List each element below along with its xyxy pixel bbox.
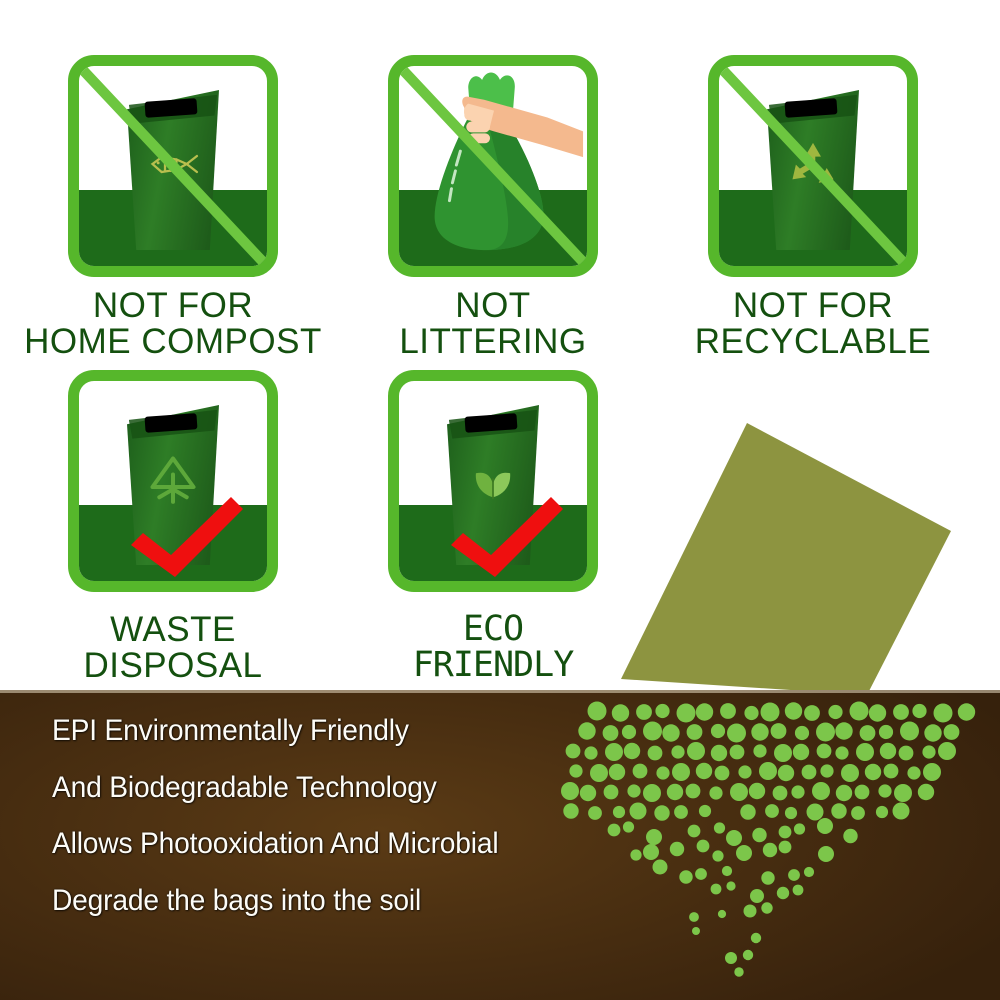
badge-not-for-home-compost[interactable]	[68, 55, 278, 277]
badge-label-not-littering: NOT LITTERING	[333, 288, 653, 359]
bin-slot	[145, 413, 198, 433]
fishbone-icon	[144, 146, 201, 180]
banner-line-2: And Biodegradable Technology	[52, 765, 616, 812]
badge-frame	[708, 55, 918, 277]
trash-bin-icon	[127, 90, 219, 250]
olive-plastic-bag-sheet-icon	[595, 405, 995, 695]
badge-label-not-for-recyclable: NOT FOR RECYCLABLE	[653, 288, 973, 359]
bin-slot	[785, 98, 838, 118]
poster-canvas: NOT FOR HOME COMPOST	[0, 0, 1000, 1000]
banner-line-1: EPI Environmentally Friendly	[52, 708, 616, 755]
badge-not-littering[interactable]	[388, 55, 598, 277]
badge-frame	[68, 370, 278, 592]
degrading-dots-funnel-icon	[555, 690, 1000, 1000]
red-check-icon	[127, 493, 247, 577]
banner-line-3: Allows Photooxidation And Microbial	[52, 821, 616, 868]
recycle-icon	[784, 138, 841, 189]
badge-frame	[68, 55, 278, 277]
soil-banner: EPI Environmentally Friendly And Biodegr…	[0, 690, 1000, 1000]
badge-label-not-for-home-compost: NOT FOR HOME COMPOST	[13, 288, 333, 359]
badge-eco-friendly[interactable]	[388, 370, 598, 592]
badge-waste-disposal[interactable]	[68, 370, 278, 592]
badge-frame	[388, 370, 598, 592]
bin-slot	[465, 413, 518, 433]
red-check-icon	[447, 493, 567, 577]
badge-not-for-recyclable[interactable]	[708, 55, 918, 277]
hand-holding-garbage-bag-icon	[399, 66, 587, 266]
banner-line-4: Degrade the bags into the soil	[52, 878, 616, 925]
bin-slot	[145, 98, 198, 118]
badge-label-waste-disposal: WASTE DISPOSAL	[13, 612, 333, 683]
badge-frame	[388, 55, 598, 277]
trash-bin-icon	[767, 90, 859, 250]
